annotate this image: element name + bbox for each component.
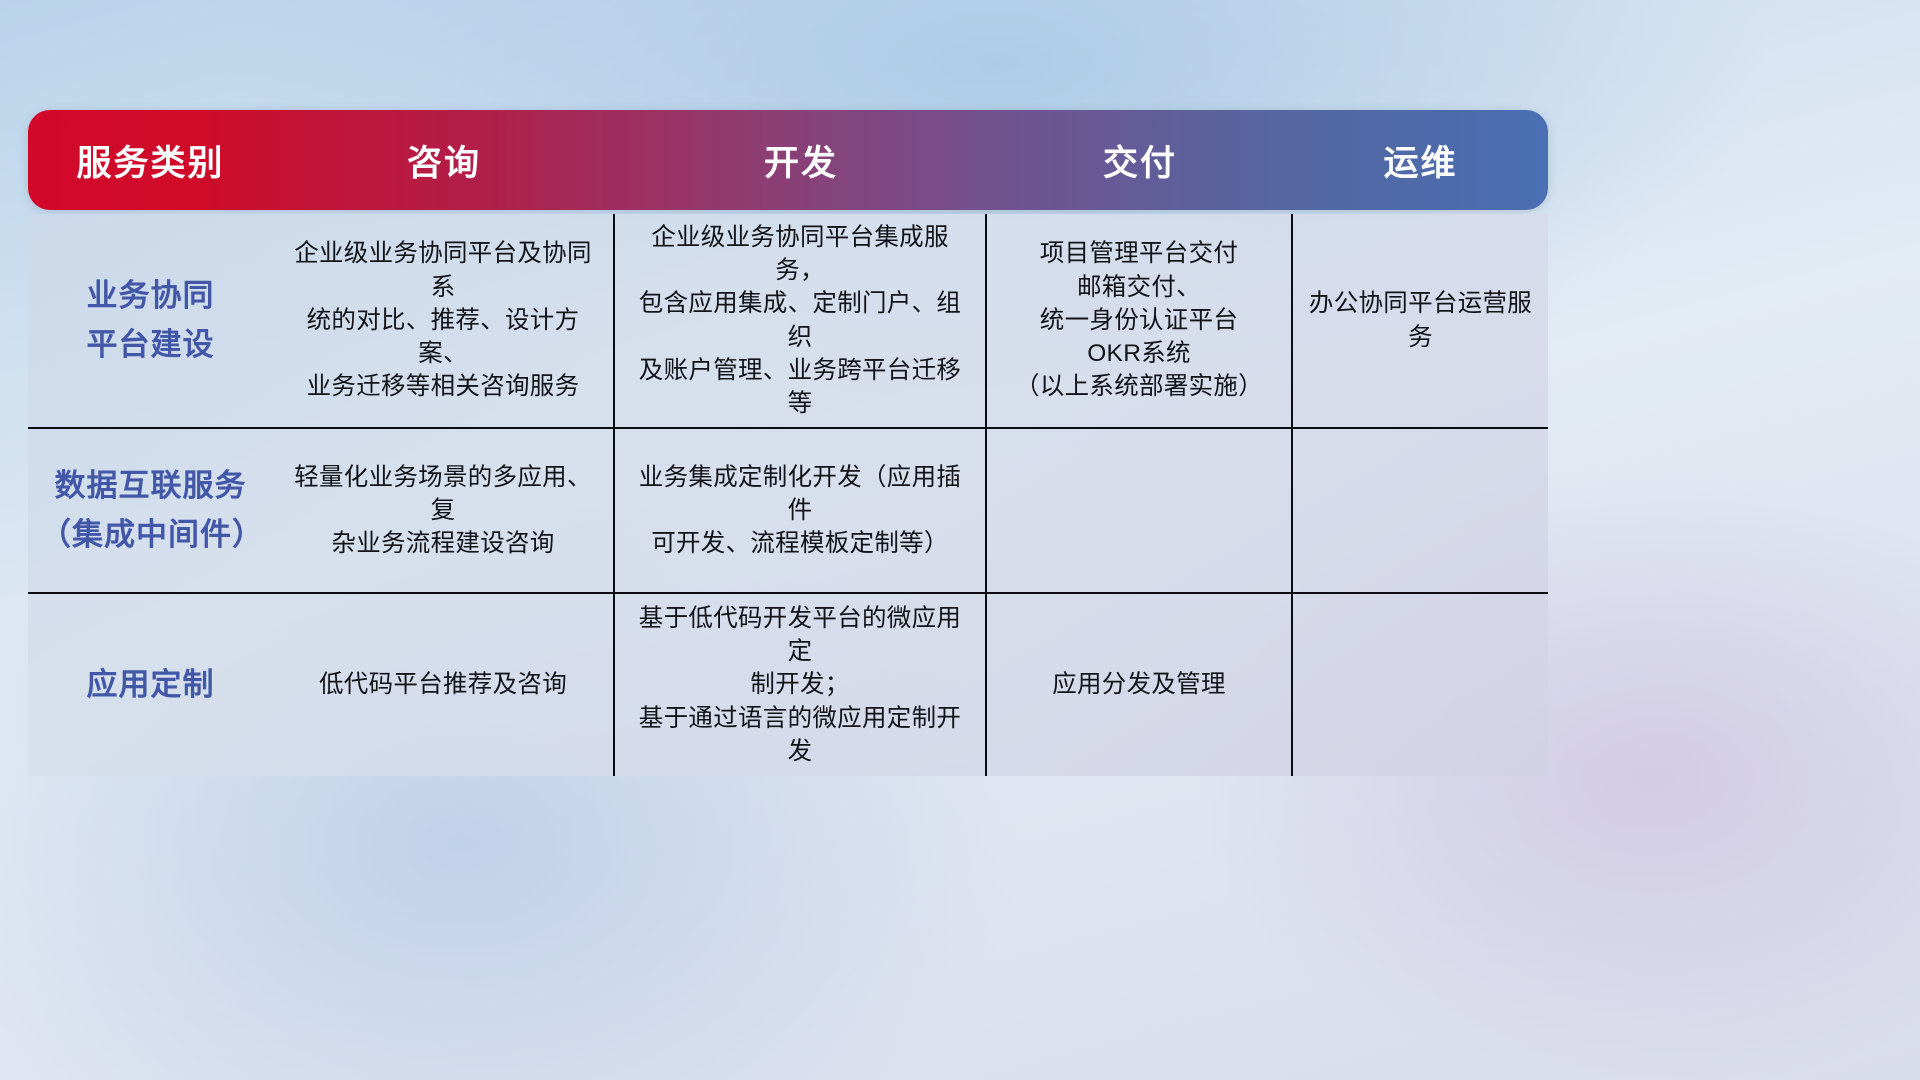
table-row: 应用定制 — [28, 594, 273, 776]
column-header-development: 开发 — [615, 135, 987, 186]
table-row: 数据互联服务 （集成中间件） — [28, 429, 273, 594]
cell-consulting: 企业级业务协同平台及协同系 统的对比、推荐、设计方案、 业务迁移等相关咨询服务 — [273, 214, 615, 429]
cell-operations — [1293, 594, 1548, 776]
table-header-row: 服务类别 咨询 开发 交付 运维 — [28, 110, 1548, 210]
slide-canvas: 服务类别 咨询 开发 交付 运维 业务协同 平台建设 企业级业务协同平台及协同系… — [0, 0, 1920, 1080]
cell-consulting: 轻量化业务场景的多应用、复 杂业务流程建设咨询 — [273, 429, 615, 594]
column-header-delivery: 交付 — [987, 135, 1293, 186]
cell-consulting: 低代码平台推荐及咨询 — [273, 594, 615, 776]
table-row: 业务协同 平台建设 — [28, 214, 273, 429]
cell-delivery: 项目管理平台交付 邮箱交付、 统一身份认证平台 OKR系统 （以上系统部署实施） — [987, 214, 1293, 429]
cell-delivery — [987, 429, 1293, 594]
column-header-consulting: 咨询 — [273, 135, 615, 186]
cell-operations — [1293, 429, 1548, 594]
column-header-service-category: 服务类别 — [28, 135, 273, 186]
cell-development: 业务集成定制化开发（应用插件 可开发、流程模板定制等） — [615, 429, 987, 594]
table-body: 业务协同 平台建设 企业级业务协同平台及协同系 统的对比、推荐、设计方案、 业务… — [28, 214, 1548, 776]
column-header-operations: 运维 — [1293, 135, 1548, 186]
cell-development: 基于低代码开发平台的微应用定 制开发； 基于通过语言的微应用定制开发 — [615, 594, 987, 776]
cell-operations: 办公协同平台运营服务 — [1293, 214, 1548, 429]
cell-development: 企业级业务协同平台集成服务， 包含应用集成、定制门户、组织 及账户管理、业务跨平… — [615, 214, 987, 429]
cell-delivery: 应用分发及管理 — [987, 594, 1293, 776]
